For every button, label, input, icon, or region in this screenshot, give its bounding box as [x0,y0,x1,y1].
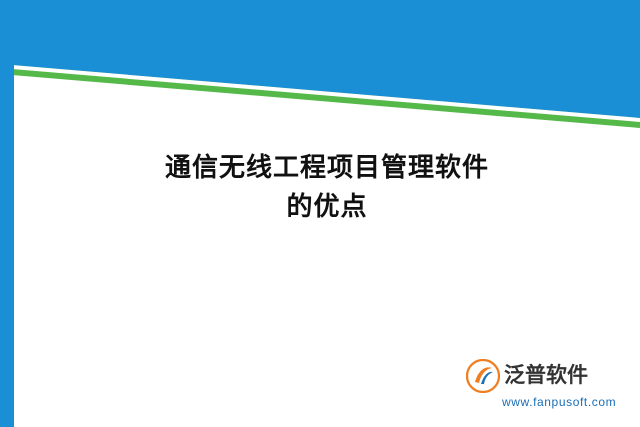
brand-name-text: 泛普软件 [504,363,588,389]
left-blue-sidebar-band [0,0,14,427]
header-blue-band [0,0,640,120]
slide-title: 通信无线工程项目管理软件 的优点 [14,148,640,226]
slide-title-line-1: 通信无线工程项目管理软件 [14,148,640,187]
brand-logo: 泛普软件 www.fanpusoft.com [466,359,626,409]
slide-canvas: 通信无线工程项目管理软件 的优点 泛普软件 www.fanpusoft.com [0,0,640,427]
fanpu-logo-icon [466,359,500,393]
brand-logo-row: 泛普软件 [466,359,626,393]
brand-url-text: www.fanpusoft.com [502,395,626,409]
slide-title-line-2: 的优点 [14,187,640,226]
